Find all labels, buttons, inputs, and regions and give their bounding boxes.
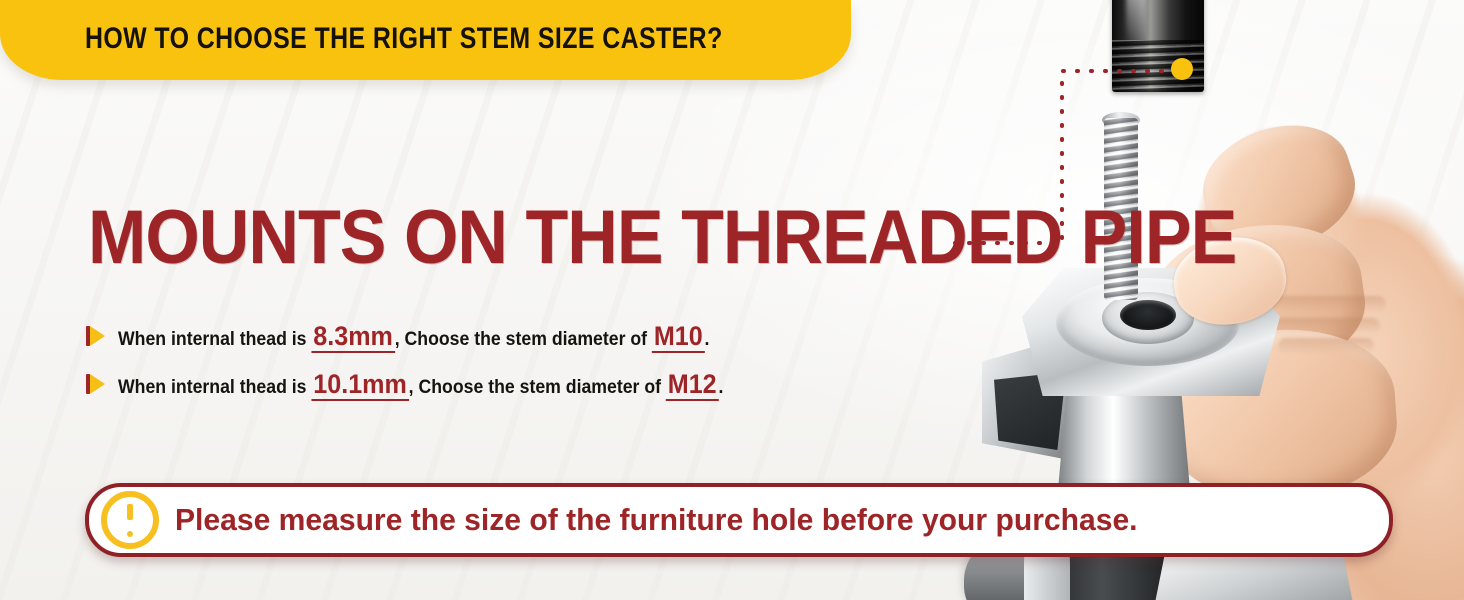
- knuckle-crease-2: [1272, 318, 1380, 334]
- bullet-middle: , Choose the stem diameter of: [409, 377, 661, 398]
- stem-value: M10: [652, 321, 705, 353]
- bullet-prefix: When internal thead is: [118, 377, 307, 398]
- thread-value: 8.3mm: [311, 321, 394, 353]
- pipe-sheen: [1126, 0, 1146, 44]
- notice-callout: Please measure the size of the furniture…: [85, 483, 1393, 557]
- triangle-right-icon: [86, 373, 108, 395]
- caster-center-hole: [1120, 300, 1176, 330]
- pipe-threads: [1112, 40, 1204, 92]
- bullet-list: When internal thead is 8.3mm, Choose the…: [86, 312, 846, 408]
- knuckle-crease-1: [1266, 296, 1386, 312]
- bullet-suffix: .: [719, 377, 724, 398]
- bullet-text: When internal thead is 8.3mm, Choose the…: [118, 321, 709, 352]
- thread-value: 10.1mm: [311, 369, 408, 401]
- knuckle-crease-3: [1278, 338, 1374, 354]
- black-threaded-pipe: [1112, 0, 1204, 92]
- bullet-text: When internal thead is 10.1mm, Choose th…: [118, 369, 723, 400]
- list-item: When internal thead is 8.3mm, Choose the…: [86, 312, 846, 360]
- triangle-right-icon: [86, 325, 108, 347]
- infographic-banner: HOW TO CHOOSE THE RIGHT STEM SIZE CASTER…: [0, 0, 1464, 600]
- header-banner: HOW TO CHOOSE THE RIGHT STEM SIZE CASTER…: [0, 0, 851, 80]
- callout-text: Please measure the size of the furniture…: [175, 502, 1138, 538]
- exclamation-circle-icon: [101, 491, 159, 549]
- bullet-middle: , Choose the stem diameter of: [395, 329, 647, 350]
- page-title: MOUNTS ON THE THREADED PIPE: [88, 200, 1236, 276]
- bullet-prefix: When internal thead is: [118, 329, 307, 350]
- stem-value: M12: [666, 369, 719, 401]
- list-item: When internal thead is 10.1mm, Choose th…: [86, 360, 846, 408]
- banner-title: HOW TO CHOOSE THE RIGHT STEM SIZE CASTER…: [85, 22, 723, 56]
- bullet-suffix: .: [705, 329, 710, 350]
